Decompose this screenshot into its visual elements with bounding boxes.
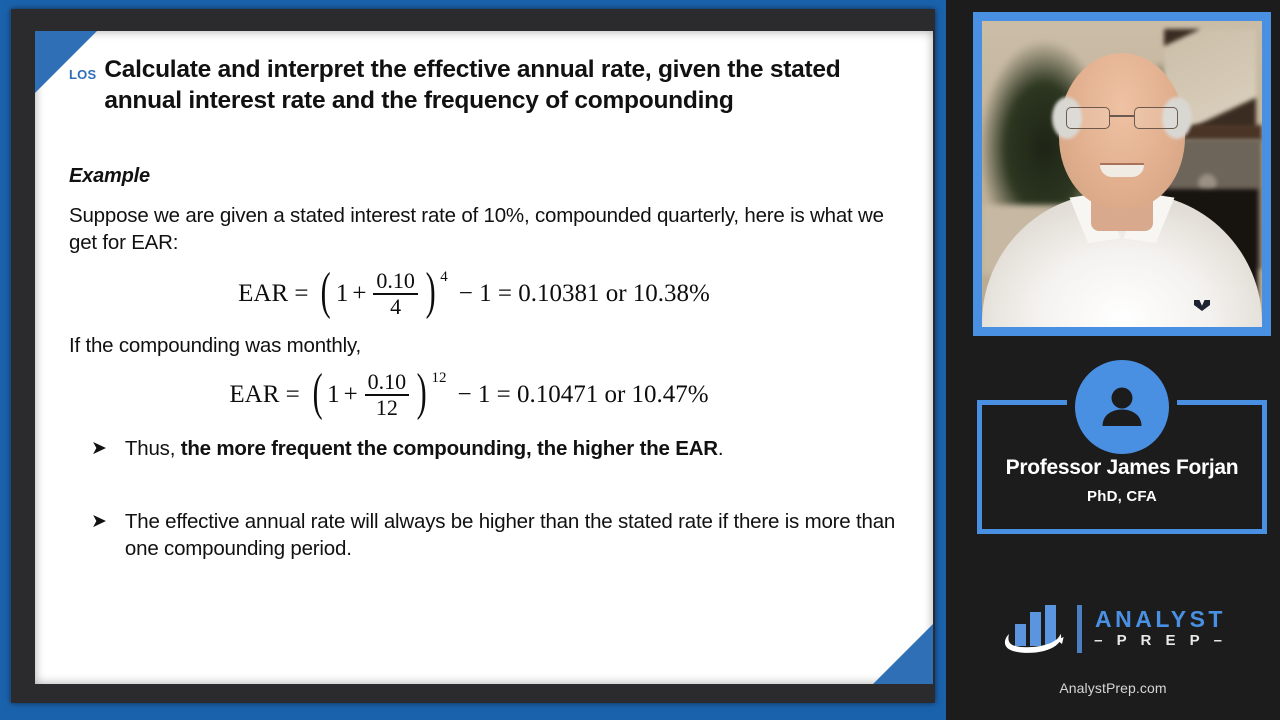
slide-bezel: LOS Calculate and interpret the effectiv… (11, 9, 935, 703)
instructor-nameplate: Professor James Forjan PhD, CFA (973, 348, 1271, 540)
example-heading: Example (69, 165, 903, 188)
equation-fraction: 0.10 12 (365, 371, 410, 419)
equation-rhs: − 1 = 0.10381 or 10.38% (459, 280, 710, 308)
list-item: ➤ The effective annual rate will always … (69, 508, 903, 563)
close-paren: ) (417, 373, 427, 414)
equation-ear-quarterly: EAR = ( 1 + 0.10 4 (69, 270, 903, 318)
bullet-lead: Thus, (125, 437, 181, 460)
bar-chart-swoosh-icon (999, 600, 1073, 658)
brand-logo-block[interactable]: ANALYST – P R E P – AnalystPrep.com (946, 600, 1280, 696)
list-item: ➤ Thus, the more frequent the compoundin… (69, 435, 903, 462)
bullet-text: The effective annual rate will always be… (125, 508, 903, 563)
bullet-emphasis: the more frequent the compounding, the h… (181, 437, 718, 460)
equation-plus: + (344, 381, 358, 409)
instructor-webcam-video[interactable] (982, 21, 1262, 327)
bullet-tail: . (718, 437, 724, 460)
glasses-lens-left (1066, 107, 1110, 129)
instructor-sidebar: Professor James Forjan PhD, CFA ANALYST … (946, 0, 1280, 720)
arrow-bullet-icon: ➤ (69, 435, 107, 462)
instructor-mouth (1100, 165, 1144, 177)
slide-title-row: LOS Calculate and interpret the effectiv… (69, 55, 903, 117)
equation-fraction: 0.10 4 (373, 270, 418, 318)
logo-row: ANALYST – P R E P – (999, 600, 1227, 658)
fraction-numerator: 0.10 (365, 371, 410, 394)
presentation-slide: LOS Calculate and interpret the effectiv… (35, 31, 933, 684)
avatar (1075, 360, 1169, 454)
brand-url[interactable]: AnalystPrep.com (1059, 680, 1166, 696)
close-paren: ) (426, 272, 436, 313)
logo-divider (1077, 605, 1082, 653)
equation-exponent: 4 (440, 269, 448, 286)
equation-exponent: 12 (432, 370, 447, 387)
slide-content: LOS Calculate and interpret the effectiv… (35, 31, 933, 684)
equation-lhs: EAR = (238, 280, 308, 308)
slide-outer-frame: LOS Calculate and interpret the effectiv… (0, 0, 946, 720)
bullet-text: Thus, the more frequent the compounding,… (125, 435, 723, 462)
equation-inner: 1 + 0.10 4 (335, 270, 422, 318)
arrow-bullet-icon: ➤ (69, 508, 107, 535)
equation-paren-group: ( 1 + 0.10 4 ) 4 (317, 270, 447, 318)
page-title: Calculate and interpret the effective an… (104, 55, 903, 117)
equation-inner: 1 + 0.10 12 (326, 371, 413, 419)
professor-credentials: PhD, CFA (973, 488, 1271, 505)
equation-ear-monthly: EAR = ( 1 + 0.10 12 (69, 371, 903, 419)
fraction-denominator: 4 (387, 295, 404, 318)
logo-brand-primary: ANALYST (1095, 607, 1226, 631)
equation-one: 1 (336, 280, 349, 308)
intro-paragraph: Suppose we are given a stated interest r… (69, 202, 899, 257)
logo-wordmark: ANALYST – P R E P – (1094, 607, 1227, 651)
equation-paren-group: ( 1 + 0.10 12 ) 12 (309, 371, 447, 419)
equation-one: 1 (327, 381, 340, 409)
glasses-icon (1066, 107, 1178, 131)
los-tag: LOS (69, 55, 96, 81)
logo-brand-secondary: – P R E P – (1094, 631, 1227, 651)
open-paren: ( (312, 373, 322, 414)
person-icon (1096, 381, 1148, 433)
fraction-numerator: 0.10 (373, 270, 418, 293)
monthly-lead-in: If the compounding was monthly, (69, 332, 903, 359)
professor-name: Professor James Forjan (973, 456, 1271, 480)
equation-lhs: EAR = (229, 381, 299, 409)
webcam-frame (973, 12, 1271, 336)
equation-plus: + (352, 280, 366, 308)
video-lecture-screen: LOS Calculate and interpret the effectiv… (0, 0, 1280, 720)
open-paren: ( (321, 272, 331, 313)
glasses-bridge (1110, 115, 1134, 117)
equation-rhs: − 1 = 0.10471 or 10.47% (458, 381, 709, 409)
fraction-denominator: 12 (373, 396, 401, 419)
glasses-lens-right (1134, 107, 1178, 129)
